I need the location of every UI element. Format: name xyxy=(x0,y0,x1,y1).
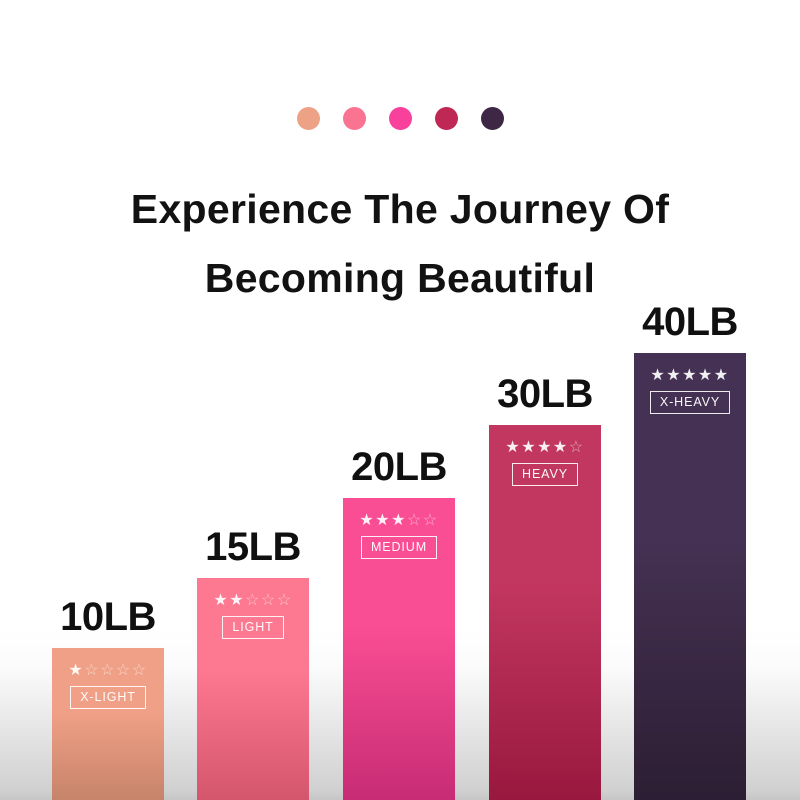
bar-column[interactable]: 10LB★☆☆☆☆X-LIGHT xyxy=(52,648,164,800)
star-empty-icon: ☆ xyxy=(84,662,100,679)
star-filled-icon: ★ xyxy=(359,512,375,529)
star-empty-icon: ☆ xyxy=(423,512,439,529)
star-filled-icon: ★ xyxy=(375,512,391,529)
star-empty-icon: ☆ xyxy=(132,662,148,679)
star-filled-icon: ★ xyxy=(666,367,682,384)
bar-column[interactable]: 40LB★★★★★X-HEAVY xyxy=(634,353,746,800)
resistance-tag: X-HEAVY xyxy=(650,391,730,414)
bar-body: ★☆☆☆☆X-LIGHT xyxy=(52,648,164,800)
resistance-tag: MEDIUM xyxy=(361,536,437,559)
resistance-tag: X-LIGHT xyxy=(70,686,146,709)
bar-value-label: 15LB xyxy=(205,525,301,570)
star-rating: ★★☆☆☆ xyxy=(197,592,309,610)
dot-x-light-icon xyxy=(297,107,320,130)
star-rating: ★★★☆☆ xyxy=(343,512,455,530)
star-filled-icon: ★ xyxy=(553,439,569,456)
bar-value-label: 20LB xyxy=(351,445,447,490)
bar-body: ★★★★★X-HEAVY xyxy=(634,353,746,800)
star-empty-icon: ☆ xyxy=(100,662,116,679)
star-empty-icon: ☆ xyxy=(245,592,261,609)
resistance-tag-wrap: LIGHT xyxy=(197,616,309,639)
bar-column[interactable]: 15LB★★☆☆☆LIGHT xyxy=(197,578,309,800)
star-empty-icon: ☆ xyxy=(569,439,585,456)
star-rating: ★★★★★ xyxy=(634,367,746,385)
resistance-tag-wrap: X-LIGHT xyxy=(52,686,164,709)
star-filled-icon: ★ xyxy=(229,592,245,609)
star-filled-icon: ★ xyxy=(521,439,537,456)
resistance-tag-wrap: X-HEAVY xyxy=(634,391,746,414)
bar-value-label: 30LB xyxy=(497,372,593,417)
star-filled-icon: ★ xyxy=(391,512,407,529)
page-title: Experience The Journey Of Becoming Beaut… xyxy=(0,175,800,313)
dot-light-icon xyxy=(343,107,366,130)
page-title-line-2: Becoming Beautiful xyxy=(0,244,800,313)
page-title-line-1: Experience The Journey Of xyxy=(0,175,800,244)
bar-value-label: 10LB xyxy=(60,595,156,640)
star-filled-icon: ★ xyxy=(213,592,229,609)
star-rating: ★★★★☆ xyxy=(489,439,601,457)
resistance-tag-wrap: HEAVY xyxy=(489,463,601,486)
star-empty-icon: ☆ xyxy=(261,592,277,609)
star-empty-icon: ☆ xyxy=(277,592,293,609)
resistance-tag: LIGHT xyxy=(222,616,283,639)
star-rating: ★☆☆☆☆ xyxy=(52,662,164,680)
dot-x-heavy-icon xyxy=(481,107,504,130)
star-filled-icon: ★ xyxy=(682,367,698,384)
star-filled-icon: ★ xyxy=(537,439,553,456)
dot-medium-icon xyxy=(389,107,412,130)
star-filled-icon: ★ xyxy=(714,367,730,384)
star-filled-icon: ★ xyxy=(68,662,84,679)
bar-column[interactable]: 30LB★★★★☆HEAVY xyxy=(489,425,601,800)
bar-body: ★★☆☆☆LIGHT xyxy=(197,578,309,800)
bar-body: ★★★★☆HEAVY xyxy=(489,425,601,800)
color-swatch-row xyxy=(0,105,800,131)
star-empty-icon: ☆ xyxy=(116,662,132,679)
star-filled-icon: ★ xyxy=(698,367,714,384)
resistance-tag-wrap: MEDIUM xyxy=(343,536,455,559)
bar-body: ★★★☆☆MEDIUM xyxy=(343,498,455,800)
star-filled-icon: ★ xyxy=(650,367,666,384)
star-empty-icon: ☆ xyxy=(407,512,423,529)
star-filled-icon: ★ xyxy=(505,439,521,456)
resistance-tag: HEAVY xyxy=(512,463,578,486)
dot-heavy-icon xyxy=(435,107,458,130)
bar-column[interactable]: 20LB★★★☆☆MEDIUM xyxy=(343,498,455,800)
